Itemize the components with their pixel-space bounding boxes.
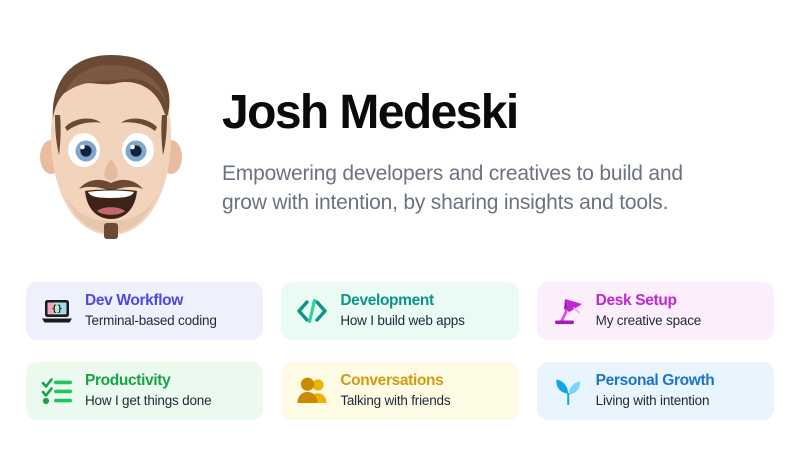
card-desk-setup[interactable]: Desk Setup My creative space [537,282,774,340]
code-brackets-icon [295,294,329,328]
card-subtitle: How I get things done [85,392,211,410]
card-title: Productivity [85,372,211,391]
desk-lamp-icon [551,294,585,328]
card-title: Dev Workflow [85,292,217,311]
memoji-avatar-icon [31,53,191,249]
checklist-icon [40,374,74,408]
header-text-block: Josh Medeski Empowering developers and c… [222,84,774,218]
avatar [26,51,196,251]
category-card-grid: {} Dev Workflow Terminal-based coding De… [26,282,774,420]
card-conversations[interactable]: Conversations Talking with friends [281,362,518,420]
card-dev-workflow[interactable]: {} Dev Workflow Terminal-based coding [26,282,263,340]
card-development[interactable]: Development How I build web apps [281,282,518,340]
card-title: Personal Growth [596,372,715,391]
card-subtitle: Living with intention [596,392,715,410]
card-subtitle: Terminal-based coding [85,312,217,330]
card-subtitle: How I build web apps [340,312,464,330]
card-productivity[interactable]: Productivity How I get things done [26,362,263,420]
card-title: Conversations [340,372,450,391]
people-icon [295,374,329,408]
profile-page: Josh Medeski Empowering developers and c… [0,0,800,450]
card-subtitle: Talking with friends [340,392,450,410]
laptop-code-icon: {} [40,294,74,328]
card-personal-growth[interactable]: Personal Growth Living with intention [537,362,774,420]
card-subtitle: My creative space [596,312,701,330]
card-title: Desk Setup [596,292,701,311]
sprout-icon [551,374,585,408]
profile-tagline: Empowering developers and creatives to b… [222,160,702,218]
profile-header: Josh Medeski Empowering developers and c… [0,0,800,262]
page-title: Josh Medeski [222,88,774,138]
card-title: Development [340,292,464,311]
svg-text:{}: {} [52,304,63,314]
